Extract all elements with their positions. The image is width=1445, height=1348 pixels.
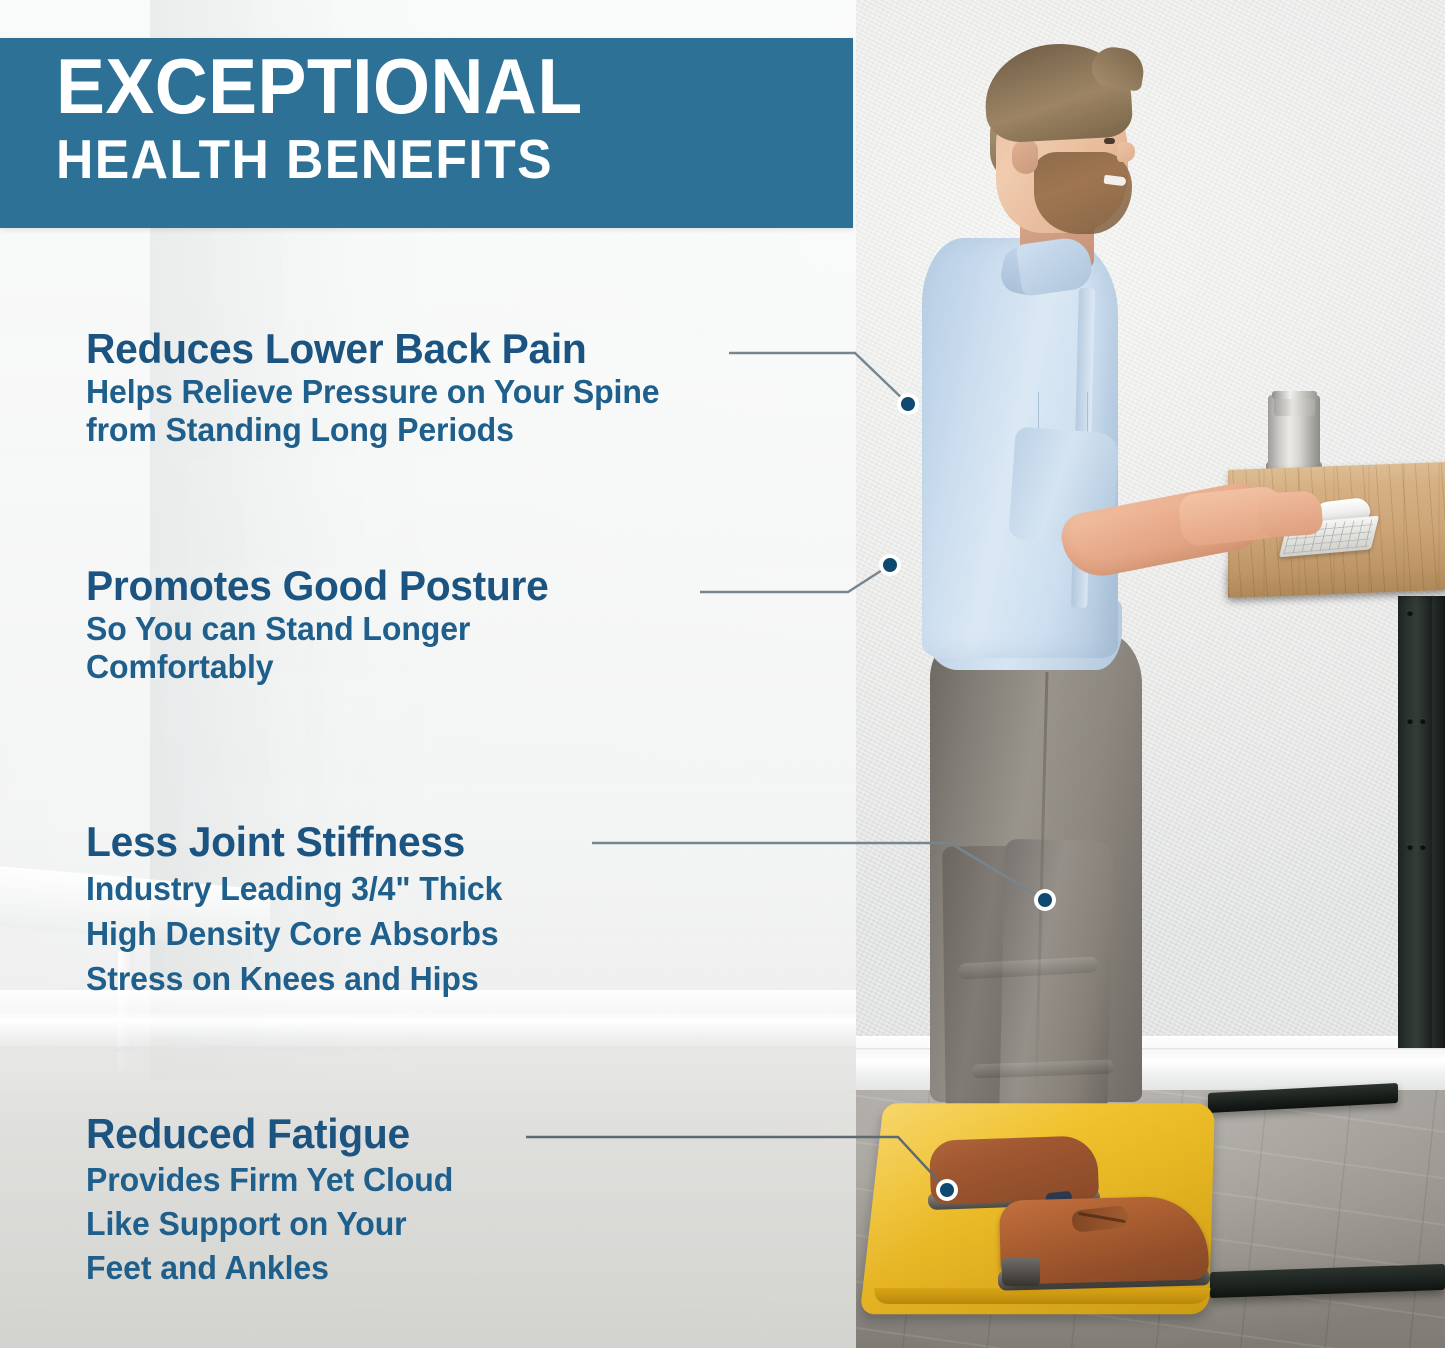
- benefit-title-3: Less Joint Stiffness: [86, 818, 502, 866]
- beard: [1034, 152, 1132, 234]
- benefit-subtitle-1: Helps Relieve Pressure on Your Spine fro…: [86, 373, 660, 449]
- trouser-leg-front: [999, 839, 1114, 1141]
- benefit-subtitle-2: So You can Stand Longer Comfortably: [86, 610, 548, 686]
- benefit-block-1: Reduces Lower Back Pain Helps Relieve Pr…: [86, 325, 677, 449]
- shoe-heel: [1002, 1258, 1040, 1286]
- benefit-title-2: Promotes Good Posture: [86, 562, 548, 610]
- header-banner: EXCEPTIONAL HEALTH BENEFITS: [0, 38, 853, 228]
- benefit-title-4: Reduced Fatigue: [86, 1110, 453, 1158]
- nose: [1117, 142, 1135, 162]
- infographic-canvas: EXCEPTIONAL HEALTH BENEFITS Reduces Lowe…: [0, 0, 1445, 1348]
- benefit-block-2: Promotes Good Posture So You can Stand L…: [86, 562, 563, 686]
- benefit-subtitle-4: Provides Firm Yet Cloud Like Support on …: [86, 1158, 453, 1290]
- ear: [1012, 140, 1038, 174]
- banner-title-line1: EXCEPTIONAL: [56, 44, 805, 128]
- hand-on-keyboard: [1257, 490, 1324, 538]
- benefit-block-3: Less Joint Stiffness Industry Leading 3/…: [86, 818, 515, 1001]
- mat-front-edge: [873, 1288, 1210, 1304]
- benefit-title-1: Reduces Lower Back Pain: [86, 325, 660, 373]
- shoe-back: [929, 1135, 1099, 1205]
- benefit-subtitle-3: Industry Leading 3/4" Thick High Density…: [86, 866, 502, 1001]
- eye: [1104, 138, 1115, 144]
- banner-title-line2: HEALTH BENEFITS: [56, 128, 805, 190]
- benefit-block-4: Reduced Fatigue Provides Firm Yet Cloud …: [86, 1110, 465, 1290]
